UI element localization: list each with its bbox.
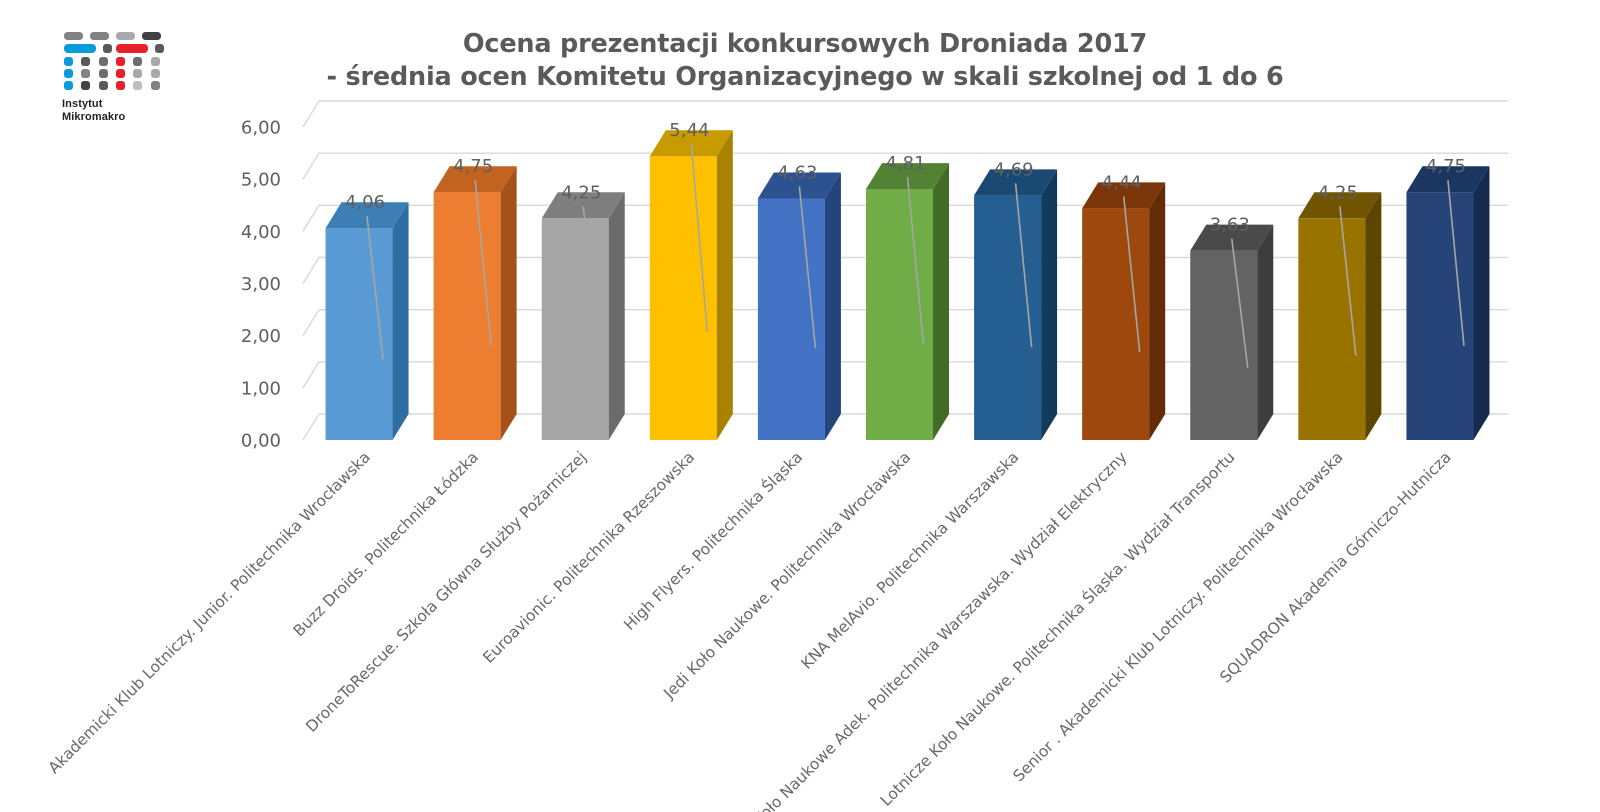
bar-front-face [1190,251,1257,440]
bar-front-face [542,218,609,440]
bar[interactable] [1298,192,1381,440]
x-axis-category-label: Jedi Koło Naukowe. Politechnika Wrocławs… [659,448,914,703]
x-axis-category-label: Euroavionic. Politechnika Rzeszowska [479,448,698,667]
x-axis-category-label: Lotnicze Koło Naukowe. Politechnika Śląs… [876,447,1238,809]
bar-side-face [1473,166,1489,440]
bar[interactable] [974,169,1057,440]
bar-value-label: 4,75 [453,156,493,177]
bar-side-face [1365,192,1381,440]
bar-side-face [1149,182,1165,440]
bar-side-face [609,192,625,440]
bar-value-label: 4,06 [345,192,385,213]
bar-value-label: 4,25 [561,182,601,203]
bar-value-label: 4,75 [1426,156,1466,177]
bar-side-face [1257,225,1273,440]
bar-side-face [933,163,949,440]
bar[interactable] [758,172,841,440]
y-axis-tick-label: 1,00 [241,378,281,399]
bar-front-face [650,156,717,440]
bar-side-face [717,130,733,440]
x-axis-category-label: KNA MelAvio. Politechnika Warszawska [798,448,1023,673]
bar[interactable] [326,202,409,440]
bar[interactable] [542,192,625,440]
bar-side-face [825,172,841,440]
bar-front-face [434,192,501,440]
bar-side-face [1041,169,1057,440]
bar-front-face [974,195,1041,440]
bar-side-face [393,202,409,440]
bar-front-face [758,198,825,440]
bar-value-label: 4,44 [1102,172,1142,193]
x-axis-category-labels: Akademicki Klub Lotniczy. Junior. Polite… [45,447,1455,812]
y-axis-tick-label: 6,00 [241,118,281,139]
y-axis-tick-label: 4,00 [241,222,281,243]
bar-value-label: 3,63 [1210,215,1250,236]
bar[interactable] [434,166,517,440]
bar-value-label: 5,44 [669,120,709,141]
bar-chart-3d: 0,001,002,003,004,005,006,00 4,064,754,2… [0,0,1600,812]
bar[interactable] [1406,166,1489,440]
y-axis-tick-label: 0,00 [241,431,281,452]
bar[interactable] [866,163,949,440]
gridline [303,101,1508,127]
bar-value-label: 4,25 [1318,182,1358,203]
bar-front-face [1298,218,1365,440]
bar-front-face [326,228,393,440]
y-axis-tick-label: 5,00 [241,170,281,191]
x-axis-category-label: High Flyers. Politechnika Śląska [620,447,807,634]
bar-value-label: 4,63 [777,162,817,183]
bar-value-label: 4,69 [994,159,1034,180]
bar-front-face [1406,192,1473,440]
y-axis-tick-label: 2,00 [241,326,281,347]
bar[interactable] [650,130,733,440]
bar[interactable] [1190,225,1273,440]
chart-page: Instytut Mikromakro Ocena prezentacji ko… [0,0,1600,812]
x-axis-category-label: SQUADRON Akademia Górniczo-Hutnicza [1216,448,1454,686]
y-axis-tick-label: 3,00 [241,274,281,295]
y-axis-tick-labels: 0,001,002,003,004,005,006,00 [241,118,281,452]
bar-value-label: 4,81 [885,153,925,174]
x-axis-category-label: Buzz Droids. Politechnika Łódzka [290,448,482,640]
bar[interactable] [1082,182,1165,440]
bar-front-face [866,189,933,440]
bars-group [326,130,1490,440]
bar-side-face [501,166,517,440]
bar-front-face [1082,208,1149,440]
